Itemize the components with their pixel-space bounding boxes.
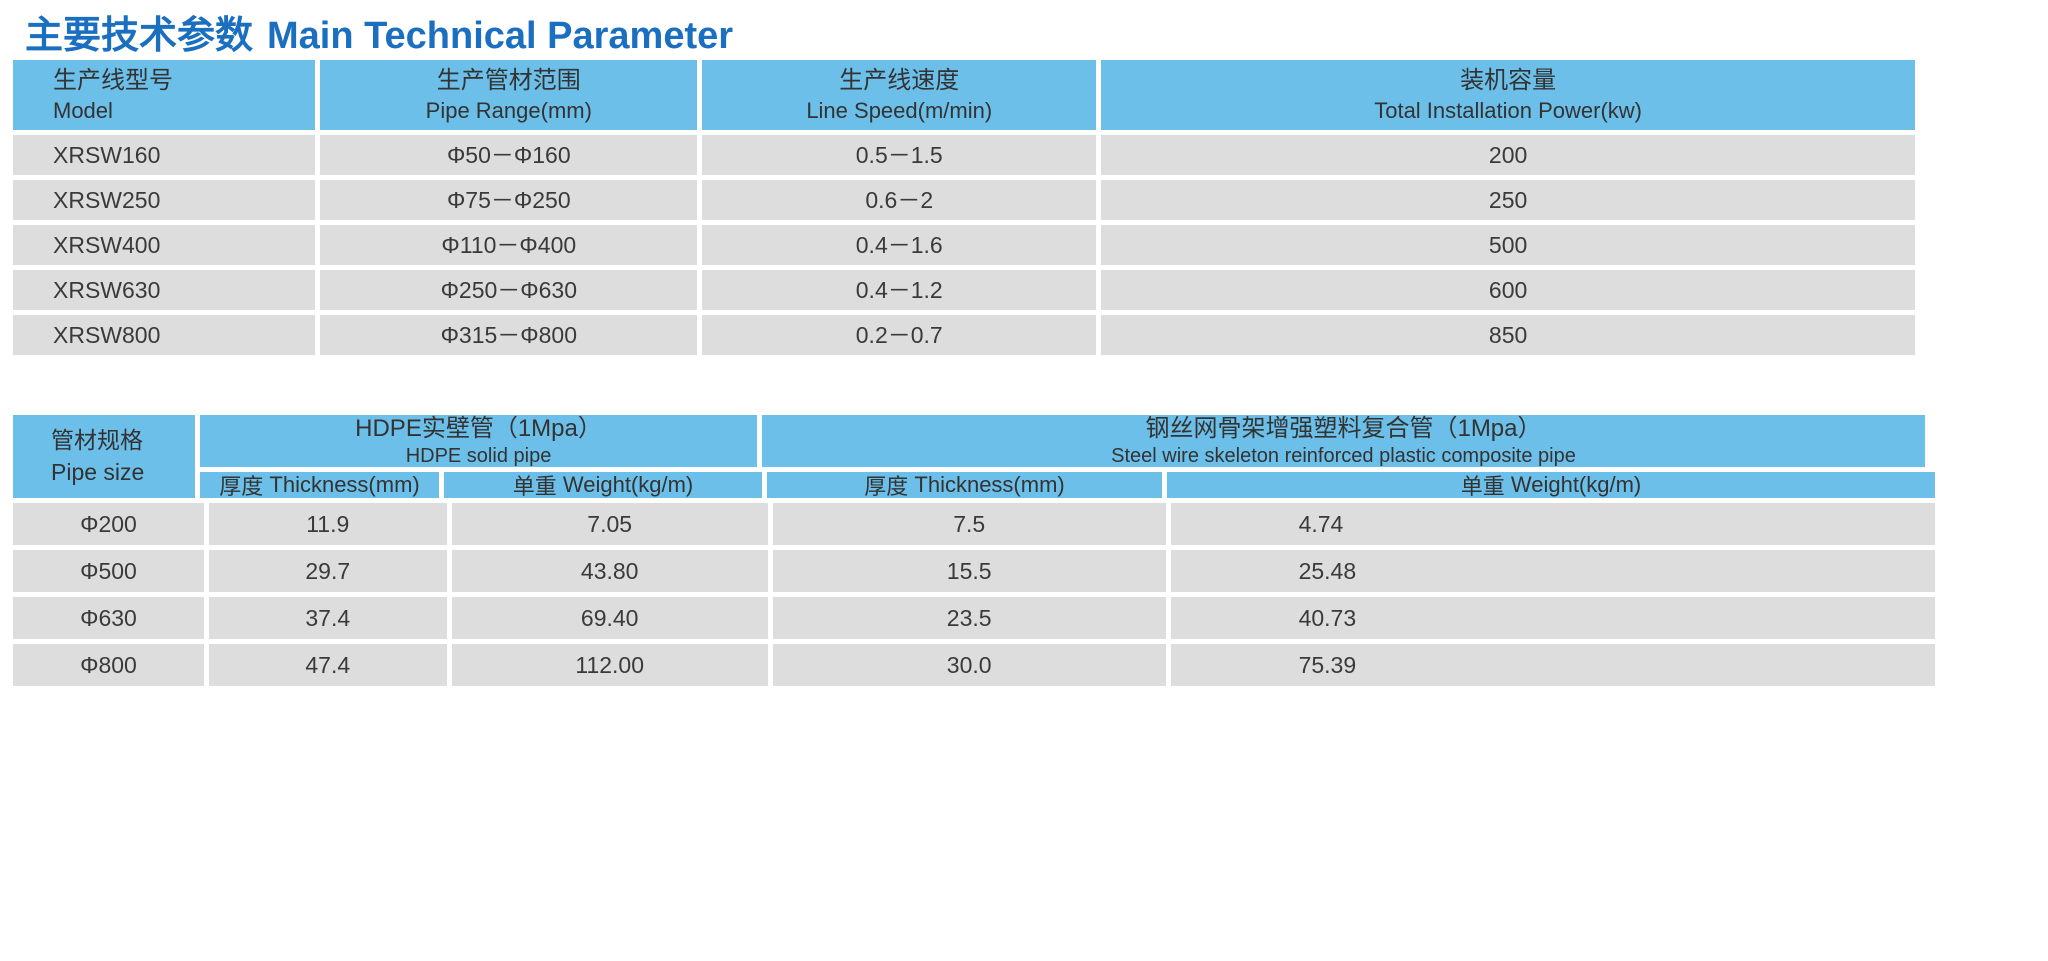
table1-cell-power: 600 [1101, 270, 1915, 310]
table1-cell-power: 250 [1101, 180, 1915, 220]
table2-header-block: 管材规格 Pipe size HDPE实壁管（1Mpa） HDPE solid … [13, 415, 1935, 498]
table2-cell-hdpe-thickness: 29.7 [209, 550, 447, 592]
table1-cell-model: XRSW800 [13, 315, 315, 355]
table2-cell-size: Φ800 [13, 644, 204, 686]
table2-cell-steel-thickness: 7.5 [773, 503, 1166, 545]
table-row: XRSW800 Φ315－Φ800 0.2－0.7 850 [13, 315, 1915, 355]
table2-header-pipe-size: 管材规格 Pipe size [13, 415, 195, 498]
table-row: XRSW160 Φ50－Φ160 0.5－1.5 200 [13, 135, 1915, 175]
table2-body: Φ200 11.9 7.05 7.5 4.74 Φ500 29.7 43.80 … [13, 503, 1935, 686]
table2-cell-steel-thickness: 23.5 [773, 597, 1166, 639]
table1-header-row: 生产线型号 Model 生产管材范围 Pipe Range(mm) 生产线速度 … [13, 60, 1915, 130]
table1-cell-model: XRSW160 [13, 135, 315, 175]
table2-subheader-hdpe-thickness: 厚度 Thickness(mm) [200, 472, 439, 498]
table-row: XRSW400 Φ110－Φ400 0.4－1.6 500 [13, 225, 1915, 265]
table2-subheader-hdpe-weight-cn: 单重 [513, 469, 557, 501]
table2-cell-hdpe-weight: 69.40 [452, 597, 768, 639]
table2-subheader-steel-thickness-cn: 厚度 [864, 469, 908, 501]
table1-cell-model: XRSW250 [13, 180, 315, 220]
table2-subheader-hdpe-weight: 单重 Weight(kg/m) [444, 472, 762, 498]
table2-subheader-steel-weight-en: Weight(kg/m) [1511, 472, 1641, 498]
table1-cell-line-speed: 0.5－1.5 [702, 135, 1096, 175]
table2-subheader-hdpe-thickness-cn: 厚度 [219, 469, 263, 501]
table2-cell-steel-thickness: 15.5 [773, 550, 1166, 592]
table2-cell-hdpe-weight: 43.80 [452, 550, 768, 592]
table2-cell-size: Φ200 [13, 503, 204, 545]
table2-header-pipe-size-cn: 管材规格 [51, 425, 143, 457]
page-root: 主要技术参数Main Technical Parameter 生产线型号 Mod… [0, 0, 2048, 961]
table2-cell-hdpe-thickness: 37.4 [209, 597, 447, 639]
table2-subheader-steel-thickness-en: Thickness(mm) [914, 472, 1064, 498]
table1-header-pipe-range-cn: 生产管材范围 [437, 65, 581, 97]
page-title-en: Main Technical Parameter [267, 15, 733, 57]
table2-group-steel-wire: 钢丝网骨架增强塑料复合管（1Mpa） Steel wire skeleton r… [762, 415, 1925, 467]
table1-header-pipe-range: 生产管材范围 Pipe Range(mm) [320, 60, 697, 130]
table1-cell-pipe-range: Φ75－Φ250 [320, 180, 697, 220]
table2-cell-hdpe-thickness: 47.4 [209, 644, 447, 686]
table2-group-steel-wire-cn: 钢丝网骨架增强塑料复合管（1Mpa） [1145, 414, 1541, 444]
table1-cell-pipe-range: Φ250－Φ630 [320, 270, 697, 310]
table1-cell-power: 200 [1101, 135, 1915, 175]
table2-cell-size: Φ500 [13, 550, 204, 592]
table2-group-row: HDPE实壁管（1Mpa） HDPE solid pipe 钢丝网骨架增强塑料复… [200, 415, 1935, 467]
table1-header-total-power-en: Total Installation Power(kw) [1374, 96, 1642, 125]
table-gap-spacer [13, 355, 2035, 415]
table1-cell-power: 850 [1101, 315, 1915, 355]
table1-header-pipe-range-en: Pipe Range(mm) [426, 96, 592, 125]
table1-header-line-speed-en: Line Speed(m/min) [806, 96, 992, 125]
table2-cell-steel-weight: 4.74 [1171, 503, 1935, 545]
table2-cell-steel-weight: 75.39 [1171, 644, 1935, 686]
table1-cell-pipe-range: Φ110－Φ400 [320, 225, 697, 265]
table2-cell-size: Φ630 [13, 597, 204, 639]
table2-group-hdpe-cn: HDPE实壁管（1Mpa） [355, 414, 602, 444]
table1-cell-model: XRSW400 [13, 225, 315, 265]
main-technical-parameter-table: 生产线型号 Model 生产管材范围 Pipe Range(mm) 生产线速度 … [13, 60, 1915, 355]
table2-subheader-steel-weight: 单重 Weight(kg/m) [1167, 472, 1935, 498]
table2-cell-steel-thickness: 30.0 [773, 644, 1166, 686]
table1-header-model-en: Model [53, 96, 113, 125]
table-row: XRSW630 Φ250－Φ630 0.4－1.2 600 [13, 270, 1915, 310]
table-row: Φ500 29.7 43.80 15.5 25.48 [13, 550, 1935, 592]
table2-subheader-row: 厚度 Thickness(mm) 单重 Weight(kg/m) 厚度 Thic… [200, 472, 1935, 498]
table1-cell-model: XRSW630 [13, 270, 315, 310]
table1-header-line-speed-cn: 生产线速度 [839, 65, 959, 97]
pipe-size-specification-table: 管材规格 Pipe size HDPE实壁管（1Mpa） HDPE solid … [13, 415, 1935, 686]
table2-subheader-steel-weight-cn: 单重 [1461, 469, 1505, 501]
table2-subheader-hdpe-thickness-en: Thickness(mm) [269, 472, 419, 498]
table2-cell-hdpe-weight: 112.00 [452, 644, 768, 686]
table-row: Φ200 11.9 7.05 7.5 4.74 [13, 503, 1935, 545]
table2-cell-hdpe-weight: 7.05 [452, 503, 768, 545]
table2-group-hdpe: HDPE实壁管（1Mpa） HDPE solid pipe [200, 415, 757, 467]
table1-cell-line-speed: 0.4－1.6 [702, 225, 1096, 265]
table2-subheader-hdpe-weight-en: Weight(kg/m) [563, 472, 693, 498]
table-row: XRSW250 Φ75－Φ250 0.6－2 250 [13, 180, 1915, 220]
table1-cell-line-speed: 0.2－0.7 [702, 315, 1096, 355]
table1-cell-pipe-range: Φ315－Φ800 [320, 315, 697, 355]
table1-header-line-speed: 生产线速度 Line Speed(m/min) [702, 60, 1096, 130]
table1-cell-line-speed: 0.6－2 [702, 180, 1096, 220]
table2-subheader-steel-thickness: 厚度 Thickness(mm) [767, 472, 1162, 498]
table1-header-total-power: 装机容量 Total Installation Power(kw) [1101, 60, 1915, 130]
table2-cell-steel-weight: 25.48 [1171, 550, 1935, 592]
page-title-cn: 主要技术参数 [25, 15, 253, 57]
table1-header-model-cn: 生产线型号 [53, 65, 173, 97]
table1-cell-line-speed: 0.4－1.2 [702, 270, 1096, 310]
table2-header-pipe-size-en: Pipe size [51, 457, 144, 489]
table2-group-wrap: HDPE实壁管（1Mpa） HDPE solid pipe 钢丝网骨架增强塑料复… [200, 415, 1935, 498]
table2-cell-steel-weight: 40.73 [1171, 597, 1935, 639]
page-title: 主要技术参数Main Technical Parameter [13, 0, 2035, 60]
table2-group-steel-wire-en: Steel wire skeleton reinforced plastic c… [1111, 444, 1576, 469]
table2-cell-hdpe-thickness: 11.9 [209, 503, 447, 545]
table1-header-model: 生产线型号 Model [13, 60, 315, 130]
table2-group-hdpe-en: HDPE solid pipe [406, 444, 552, 469]
table-row: Φ630 37.4 69.40 23.5 40.73 [13, 597, 1935, 639]
table1-cell-pipe-range: Φ50－Φ160 [320, 135, 697, 175]
table1-cell-power: 500 [1101, 225, 1915, 265]
table1-header-total-power-cn: 装机容量 [1460, 65, 1556, 97]
table-row: Φ800 47.4 112.00 30.0 75.39 [13, 644, 1935, 686]
